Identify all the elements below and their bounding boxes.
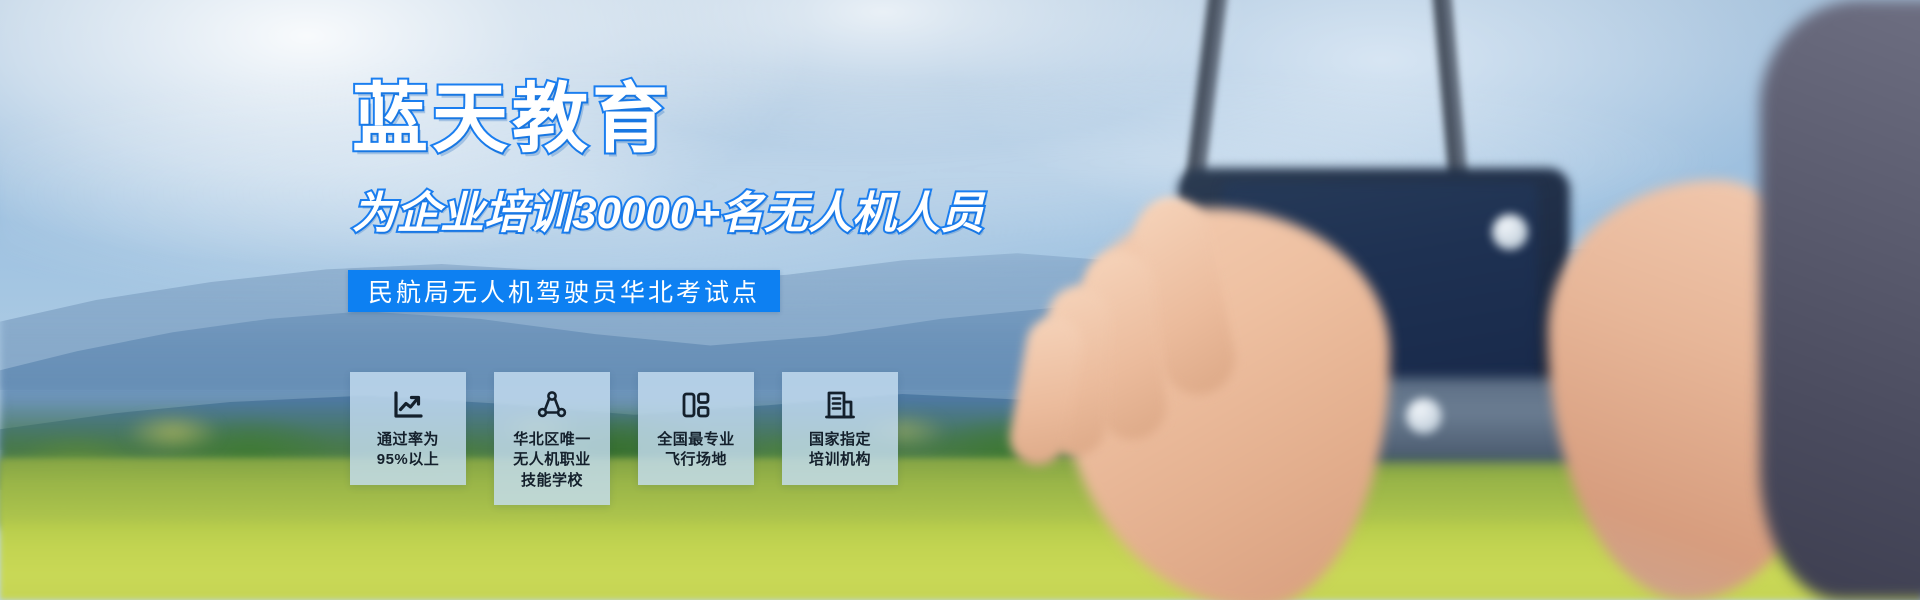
feature-card-label: 国家指定 培训机构 xyxy=(809,430,871,471)
feature-card-list: 通过率为 95%以上 华北区唯一 无人机职业 技能学校 xyxy=(350,372,898,505)
feature-card-vocational-school[interactable]: 华北区唯一 无人机职业 技能学校 xyxy=(494,372,610,505)
feature-card-label: 全国最专业 飞行场地 xyxy=(657,430,735,471)
feature-card-label: 通过率为 95%以上 xyxy=(377,430,440,471)
feature-card-state-institution[interactable]: 国家指定 培训机构 xyxy=(782,372,898,485)
brand-title: 蓝天教育 xyxy=(352,82,672,158)
certification-badge: 民航局无人机驾驶员华北考试点 xyxy=(348,270,780,312)
banner-subtitle: 为企业培训30000+名无人机人员 xyxy=(352,192,984,236)
hero-banner: 蓝天教育 为企业培训30000+名无人机人员 民航局无人机驾驶员华北考试点 通过… xyxy=(0,0,1920,600)
feature-card-flight-field[interactable]: 全国最专业 飞行场地 xyxy=(638,372,754,485)
feature-card-pass-rate[interactable]: 通过率为 95%以上 xyxy=(350,372,466,485)
building-institution-icon xyxy=(823,388,857,422)
network-nodes-icon xyxy=(535,388,569,422)
banner-content: 蓝天教育 为企业培训30000+名无人机人员 民航局无人机驾驶员华北考试点 通过… xyxy=(0,0,1920,600)
layout-panels-icon xyxy=(679,388,713,422)
trending-up-chart-icon xyxy=(391,388,425,422)
feature-card-label: 华北区唯一 无人机职业 技能学校 xyxy=(513,430,591,491)
